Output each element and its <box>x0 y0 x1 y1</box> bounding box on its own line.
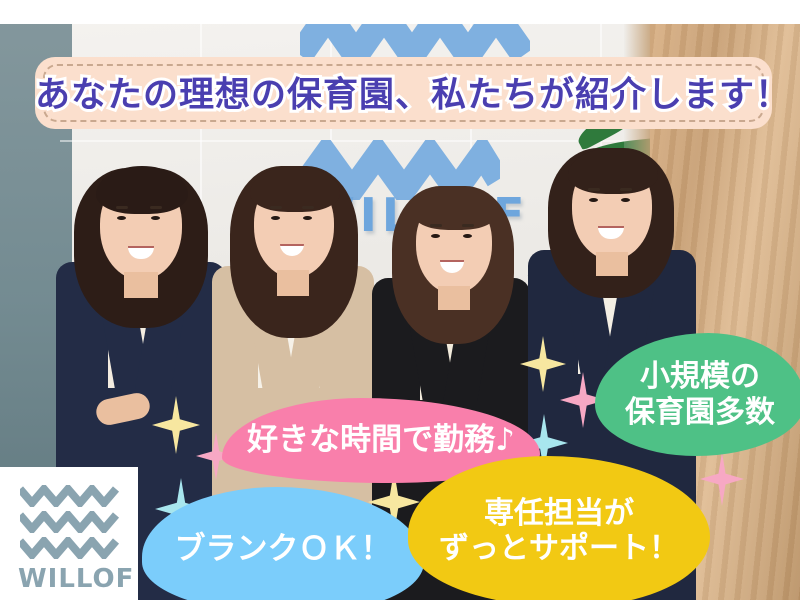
sparkle-icon <box>152 396 200 454</box>
photo-top-margin <box>0 0 800 24</box>
bubble-line: 好きな時間で勤務♪ <box>247 422 515 459</box>
headline-banner: あなたの理想の保育園、私たちが紹介します！ <box>35 57 772 129</box>
logo-chevron-icon <box>20 537 120 559</box>
logo-chevron-icon <box>20 485 120 507</box>
headline-text: あなたの理想の保育園、私たちが紹介します！ <box>35 66 772 117</box>
willof-logo-card: WILLOF <box>0 467 138 600</box>
bubble-line: 小規模の <box>640 359 760 394</box>
bubble-line: ずっとサポート！ <box>439 531 679 566</box>
bubble-line: ブランクＯＫ！ <box>175 531 392 568</box>
bubble-line: 専任担当が <box>484 496 634 531</box>
logo-wordmark: WILLOF <box>18 564 134 594</box>
logo-chevron-icon <box>20 511 120 533</box>
bubble-line: 保育園多数 <box>625 395 775 430</box>
sparkle-icon <box>700 452 744 506</box>
poster-canvas: WILLOF <box>0 0 800 600</box>
